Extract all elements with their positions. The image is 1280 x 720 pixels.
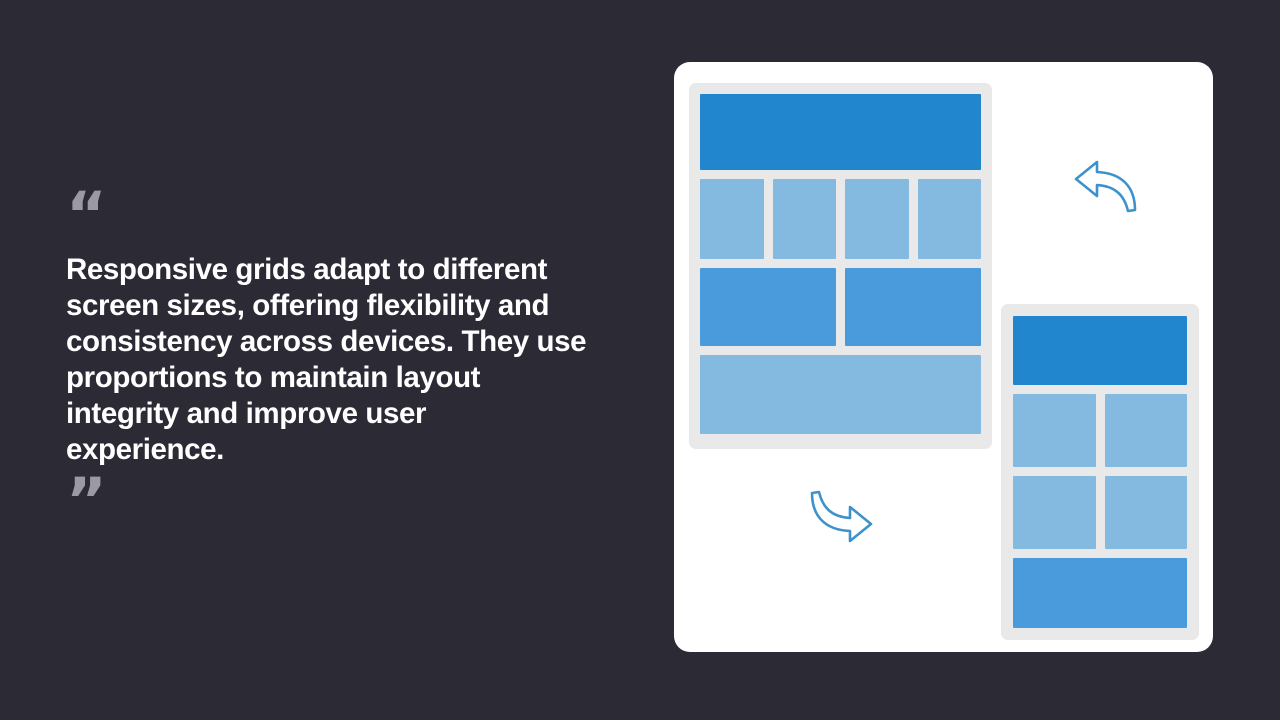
curved-arrow-left-icon <box>1071 158 1141 216</box>
quote-close-icon: ” <box>66 482 606 520</box>
grid-cell <box>700 355 981 434</box>
desktop-two-column-row <box>700 268 981 346</box>
grid-cell <box>700 179 764 259</box>
grid-cell <box>700 94 981 170</box>
desktop-footer-row <box>700 355 981 434</box>
grid-cell <box>845 179 909 259</box>
mobile-two-column-row-2 <box>1013 476 1187 549</box>
mobile-footer-row <box>1013 558 1187 628</box>
grid-cell <box>1105 476 1188 549</box>
grid-cell <box>1013 476 1096 549</box>
grid-cell <box>1105 394 1188 467</box>
desktop-header-row <box>700 94 981 170</box>
quote-open-icon: “ <box>66 196 606 234</box>
desktop-grid-frame <box>689 83 992 449</box>
mobile-grid-frame <box>1001 304 1199 640</box>
quote-text: Responsive grids adapt to different scre… <box>66 252 606 468</box>
quote-block: “ Responsive grids adapt to different sc… <box>66 196 606 521</box>
mobile-grid-inner <box>1013 316 1187 628</box>
grid-cell <box>918 179 982 259</box>
curved-arrow-right-icon <box>806 487 876 545</box>
grid-cell <box>700 268 836 346</box>
grid-cell <box>1013 558 1187 628</box>
grid-cell <box>1013 316 1187 385</box>
illustration-card <box>674 62 1213 652</box>
desktop-grid-inner <box>700 94 981 438</box>
mobile-two-column-row-1 <box>1013 394 1187 467</box>
desktop-four-column-row <box>700 179 981 259</box>
grid-cell <box>845 268 981 346</box>
mobile-header-row <box>1013 316 1187 385</box>
grid-cell <box>1013 394 1096 467</box>
grid-cell <box>773 179 837 259</box>
